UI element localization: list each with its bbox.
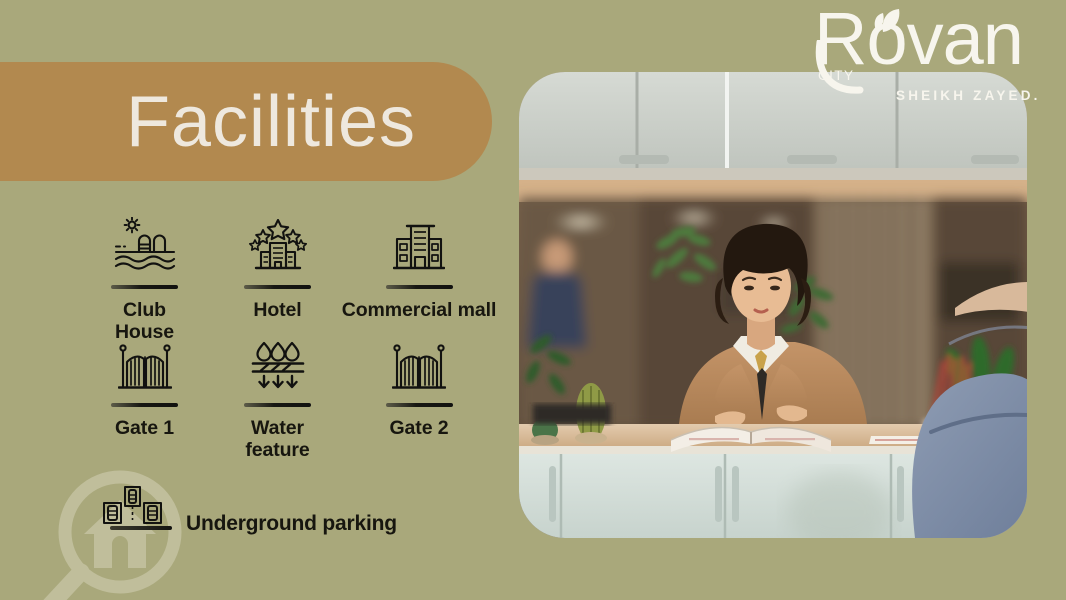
brand-city-label: CITY <box>818 68 854 83</box>
page-title-banner: Facilities <box>0 62 492 181</box>
facility-divider <box>386 285 453 289</box>
facilities-grid: Club House <box>78 215 518 453</box>
facility-divider <box>244 285 311 289</box>
office-reception-photo <box>519 72 1027 538</box>
facility-gate-1[interactable]: Gate 1 <box>78 333 211 440</box>
commercial-mall-icon <box>393 215 445 273</box>
facility-divider <box>111 285 178 289</box>
pool-club-house-icon <box>114 215 176 273</box>
facilities-row-2: Gate 1 <box>78 333 518 453</box>
page-title: Facilities <box>126 86 416 158</box>
gate-icon <box>392 333 446 391</box>
leaf-icon <box>863 8 907 39</box>
facility-commercial-mall[interactable]: Commercial mall <box>344 215 494 322</box>
facility-divider <box>111 403 178 407</box>
facility-divider <box>244 403 311 407</box>
brand-logo: Rovan CITY SHEIKH ZAYED. <box>804 6 1044 110</box>
hotel-stars-icon <box>249 215 307 273</box>
facility-gate-2[interactable]: Gate 2 <box>344 333 494 440</box>
facility-divider <box>386 403 453 407</box>
facility-label: Water feature <box>245 418 309 462</box>
parking-divider <box>110 526 172 530</box>
facility-hotel[interactable]: Hotel <box>211 215 344 322</box>
slide-canvas: Facilities <box>0 0 1066 600</box>
water-feature-icon <box>251 333 305 391</box>
facility-water-feature[interactable]: Water feature <box>211 333 344 462</box>
facilities-row-1: Club House <box>78 215 518 333</box>
facility-club-house[interactable]: Club House <box>78 215 211 344</box>
facility-underground-parking[interactable]: Underground parking <box>100 486 397 536</box>
facility-label: Gate 2 <box>389 418 448 440</box>
facility-label: Underground parking <box>186 512 397 536</box>
facility-label: Hotel <box>253 300 301 322</box>
facility-label: Gate 1 <box>115 418 174 440</box>
facility-label: Commercial mall <box>342 300 497 322</box>
brand-subtitle: SHEIKH ZAYED. <box>896 88 1041 103</box>
gate-icon <box>118 333 172 391</box>
